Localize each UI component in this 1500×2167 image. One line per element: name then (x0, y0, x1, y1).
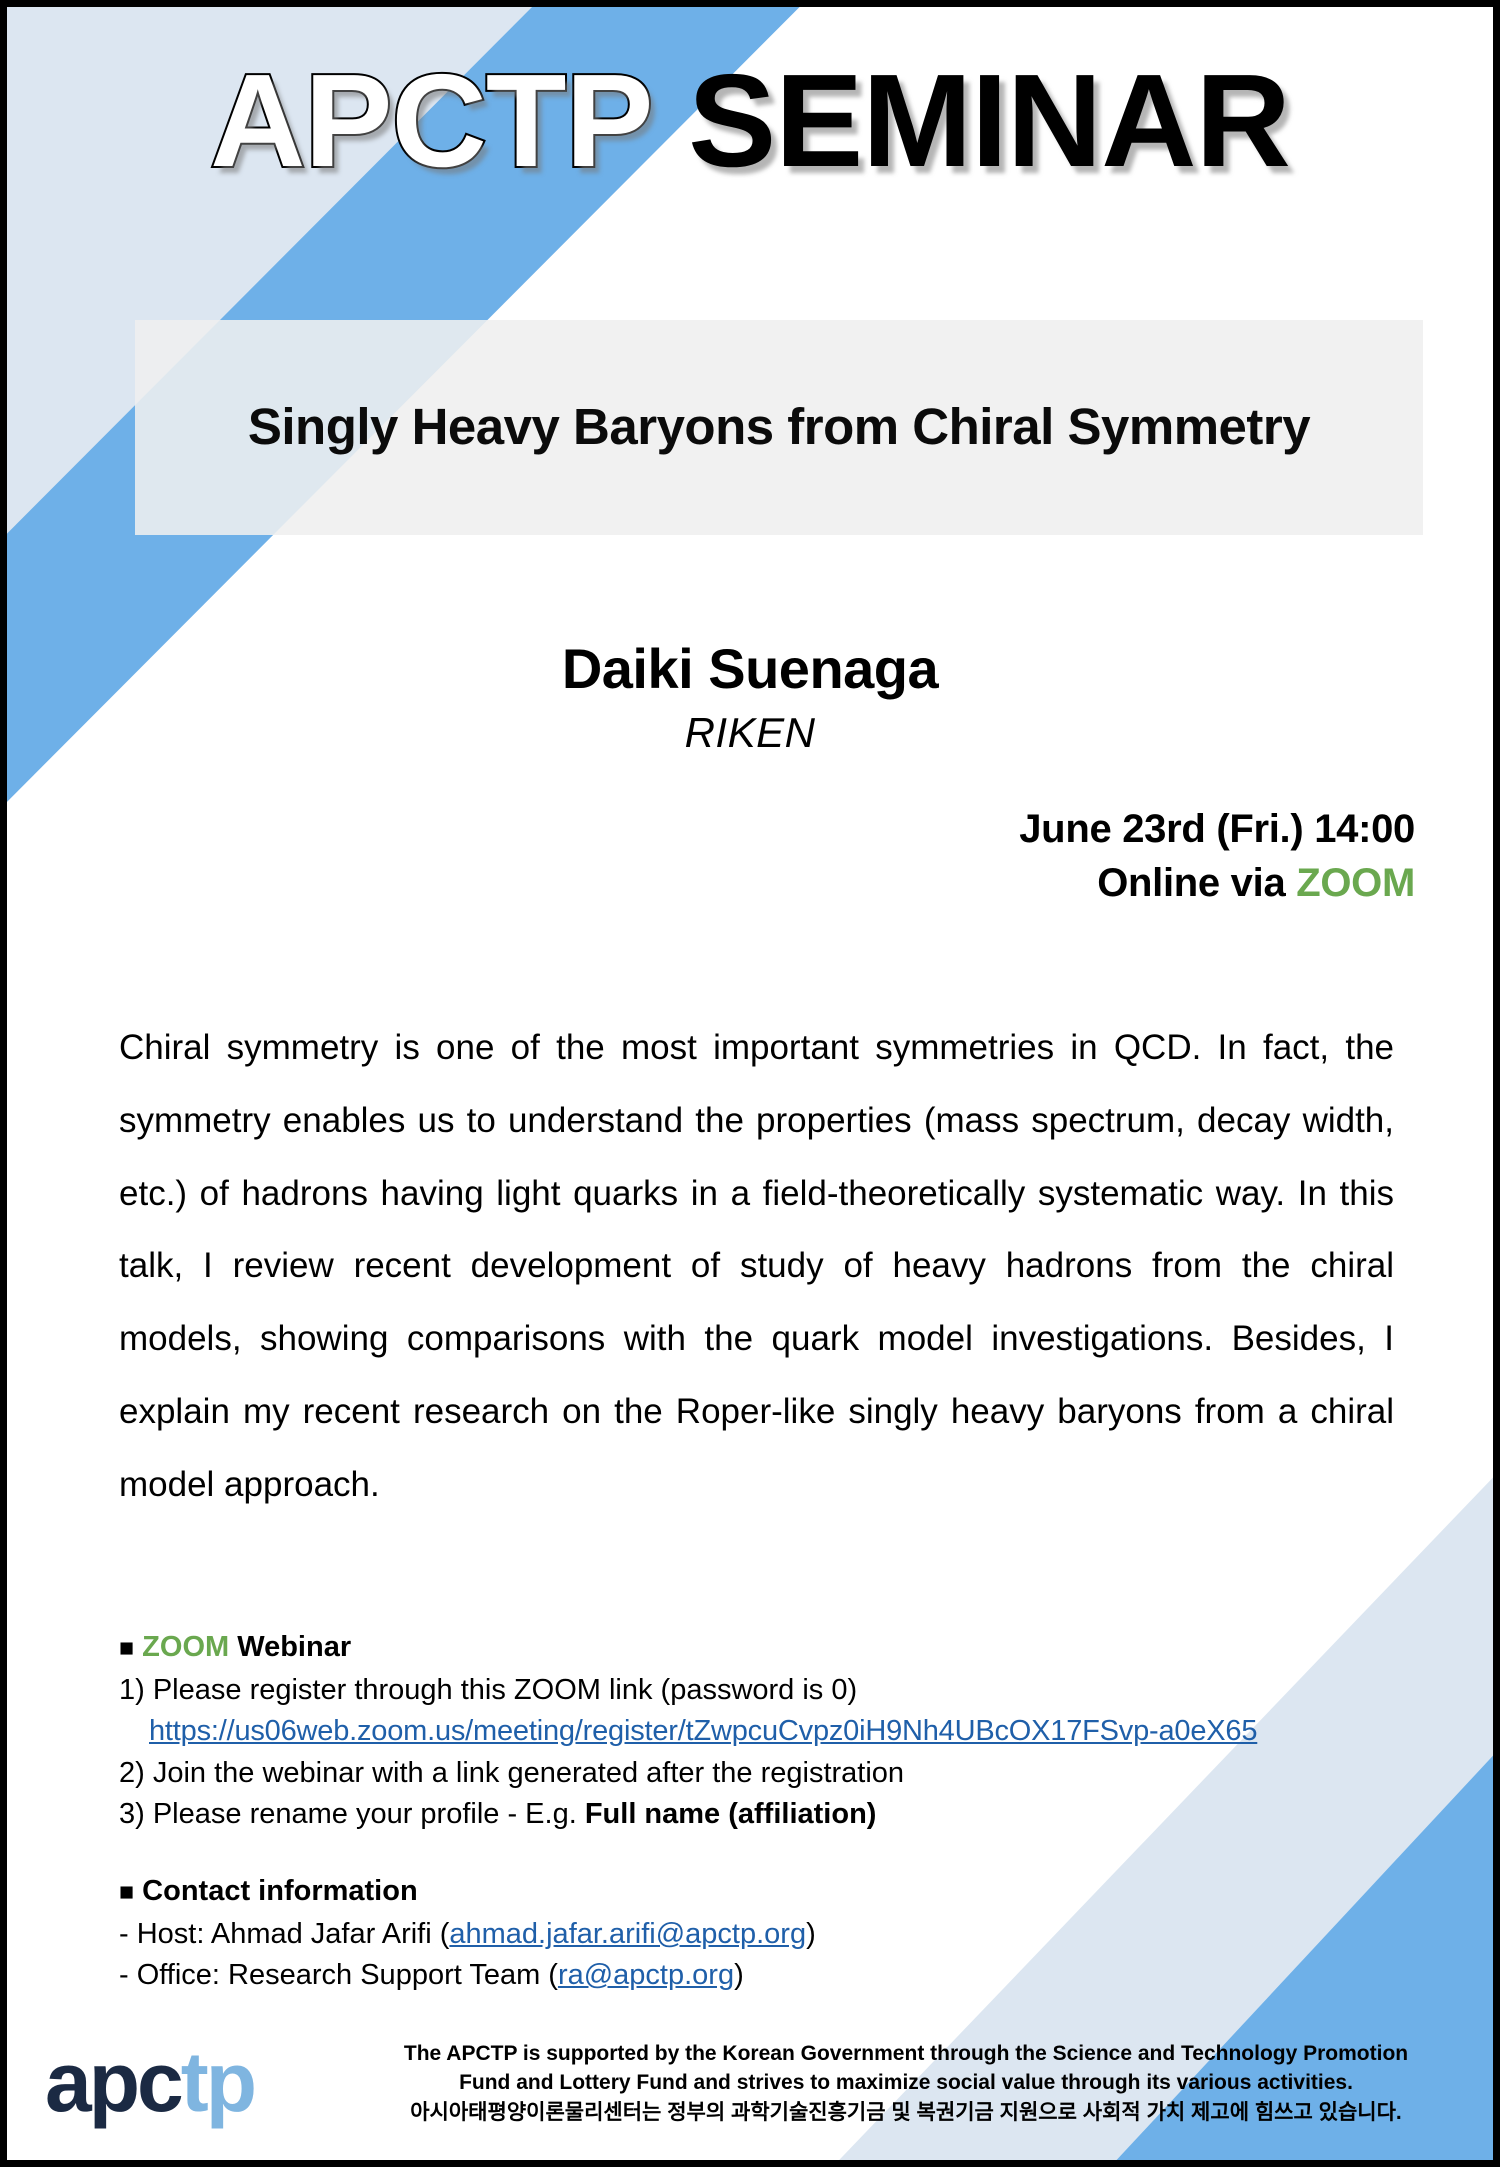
talk-title-band: Singly Heavy Baryons from Chiral Symmetr… (135, 320, 1423, 535)
contact-office-email[interactable]: ra@apctp.org (558, 1959, 734, 1991)
webinar-step-3-prefix: 3) Please rename your profile - E.g. (119, 1798, 585, 1830)
contact-office-suffix: ) (734, 1959, 744, 1991)
brand-apctp: APCTP (210, 47, 652, 194)
venue-prefix: Online via (1097, 861, 1296, 905)
contact-host-line: - Host: Ahmad Jafar Arifi (ahmad.jafar.a… (119, 1914, 1409, 1955)
venue-platform: ZOOM (1296, 861, 1415, 905)
seminar-word (652, 47, 688, 194)
info-spacer (119, 1835, 1409, 1871)
info-section: ■ ZOOM Webinar 1) Please register throug… (119, 1627, 1409, 1996)
webinar-step-3-example: Full name (affiliation) (585, 1798, 877, 1830)
square-bullet-icon-contact: ■ (119, 1878, 134, 1906)
speaker-block: Daiki Suenaga RIKEN (7, 637, 1493, 757)
abstract-section: Chiral symmetry is one of the most impor… (119, 1012, 1394, 1522)
apctp-logo-apc: apc (45, 2035, 181, 2129)
zoom-heading-platform: ZOOM (142, 1631, 229, 1663)
apctp-logo-tp: tp (181, 2035, 254, 2129)
contact-host-email[interactable]: ahmad.jafar.arifi@apctp.org (449, 1918, 806, 1950)
webinar-step-3: 3) Please rename your profile - E.g. Ful… (119, 1794, 1409, 1835)
speaker-name: Daiki Suenaga (7, 637, 1493, 701)
seminar-poster: APCTP SEMINAR Singly Heavy Baryons from … (0, 0, 1500, 2167)
seminar-wordmark: APCTP SEMINAR (210, 55, 1290, 187)
contact-heading-label: Contact information (142, 1875, 418, 1907)
square-bullet-icon: ■ (119, 1634, 134, 1662)
poster-footer: apctp The APCTP is supported by the Kore… (7, 1996, 1493, 2146)
talk-title: Singly Heavy Baryons from Chiral Symmetr… (248, 397, 1310, 457)
webinar-step-1: 1) Please register through this ZOOM lin… (119, 1670, 1409, 1711)
apctp-logo: apctp (45, 2040, 254, 2124)
funding-line-1: The APCTP is supported by the Korean Gov… (337, 2039, 1475, 2069)
seminar-label: SEMINAR (688, 47, 1290, 194)
webinar-register-link[interactable]: https://us06web.zoom.us/meeting/register… (149, 1715, 1257, 1747)
contact-office-prefix: - Office: Research Support Team ( (119, 1959, 558, 1991)
contact-heading: ■ Contact information (119, 1871, 1409, 1912)
funding-line-2: Fund and Lottery Fund and strives to max… (337, 2068, 1475, 2098)
abstract-text: Chiral symmetry is one of the most impor… (119, 1012, 1394, 1522)
seminar-datetime: June 23rd (Fri.) 14:00 (1019, 802, 1415, 856)
zoom-webinar-heading: ■ ZOOM Webinar (119, 1627, 1409, 1668)
zoom-heading-rest: Webinar (229, 1631, 351, 1663)
contact-host-suffix: ) (806, 1918, 816, 1950)
funding-line-3-korean: 아시아태평양이론물리센터는 정부의 과학기술진흥기금 및 복권기금 지원으로 사… (337, 2098, 1475, 2128)
contact-host-prefix: - Host: Ahmad Jafar Arifi ( (119, 1918, 449, 1950)
contact-office-line: - Office: Research Support Team (ra@apct… (119, 1955, 1409, 1996)
schedule-block: June 23rd (Fri.) 14:00 Online via ZOOM (1019, 802, 1415, 910)
seminar-venue: Online via ZOOM (1019, 856, 1415, 910)
speaker-affiliation: RIKEN (7, 709, 1493, 757)
poster-header: APCTP SEMINAR (7, 55, 1493, 240)
webinar-register-url-line: https://us06web.zoom.us/meeting/register… (119, 1711, 1409, 1752)
webinar-step-2: 2) Join the webinar with a link generate… (119, 1753, 1409, 1794)
funding-statement: The APCTP is supported by the Korean Gov… (337, 2039, 1475, 2128)
